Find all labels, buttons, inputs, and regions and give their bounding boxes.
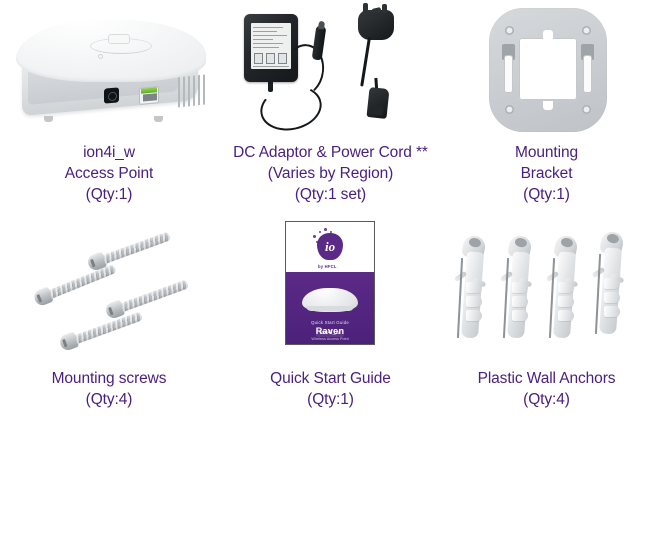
mounting-screws-art-area bbox=[0, 218, 218, 368]
wall-anchor-icon bbox=[455, 236, 489, 340]
screw-icon bbox=[58, 308, 144, 352]
mounting-screws-caption: Mounting screws (Qty:4) bbox=[52, 368, 167, 410]
caption-line-1: Mounting bbox=[515, 142, 578, 163]
mounting-bracket-icon bbox=[489, 8, 607, 132]
caption-line-1: DC Adaptor & Power Cord ** bbox=[233, 142, 428, 163]
bracket-clip-right bbox=[581, 44, 594, 92]
bracket-screw-hole-top-right bbox=[582, 26, 591, 35]
package-item-dc-adaptor: DC Adaptor & Power Cord ** (Varies by Re… bbox=[218, 0, 443, 218]
screw-icon bbox=[32, 260, 118, 307]
iec-connector bbox=[366, 87, 389, 119]
dc-power-adaptor-icon bbox=[232, 8, 344, 130]
caption-line-1: Plastic Wall Anchors bbox=[478, 368, 616, 389]
screw-group-icon bbox=[8, 228, 194, 360]
mounting-bracket-caption: Mounting Bracket (Qty:1) bbox=[515, 142, 578, 205]
package-item-mounting-bracket: Mounting Bracket (Qty:1) bbox=[443, 0, 650, 218]
plastic-wall-anchors-caption: Plastic Wall Anchors (Qty:4) bbox=[478, 368, 616, 410]
booklet-icon: io by HFCL Quick Start Guide Raven Wirel… bbox=[286, 222, 374, 344]
bracket-screw-hole-bottom-left bbox=[505, 105, 514, 114]
caption-line-2: Access Point bbox=[65, 163, 153, 184]
plug-pin-earth bbox=[372, 7, 382, 14]
ap-status-led bbox=[98, 54, 103, 59]
caption-line-1: Quick Start Guide bbox=[270, 368, 391, 389]
ethernet-rj45-port bbox=[139, 86, 159, 105]
dc-jack-port bbox=[104, 87, 119, 103]
dc-adaptor-art-area bbox=[218, 0, 443, 136]
caption-line-2: (Qty:1) bbox=[270, 389, 391, 410]
screw-icon bbox=[104, 276, 190, 320]
bracket-screw-hole-top-left bbox=[505, 26, 514, 35]
wall-anchor-icon bbox=[501, 236, 535, 340]
ap-foot-right bbox=[154, 116, 163, 122]
caption-line-1: ion4i_w bbox=[65, 142, 153, 163]
screw-icon bbox=[86, 228, 172, 272]
adaptor-cord-exit bbox=[268, 80, 273, 92]
plug-pin-left bbox=[363, 3, 368, 13]
caption-line-3: (Qty:1) bbox=[65, 184, 153, 205]
bracket-screw-hole-bottom-right bbox=[582, 105, 591, 114]
package-item-plastic-wall-anchors: Plastic Wall Anchors (Qty:4) bbox=[443, 218, 650, 446]
logo-byline: by HFCL bbox=[318, 264, 337, 269]
caption-line-3: (Qty:1) bbox=[515, 184, 578, 205]
guide-cover-subtitle: Wireless Access Point bbox=[286, 337, 374, 341]
package-contents-grid: ion4i_w Access Point (Qty:1) bbox=[0, 0, 650, 535]
caption-line-2: (Qty:4) bbox=[478, 389, 616, 410]
access-point-caption: ion4i_w Access Point (Qty:1) bbox=[65, 142, 153, 205]
caption-line-1: Mounting screws bbox=[52, 368, 167, 389]
mains-plug bbox=[358, 10, 394, 40]
wireless-access-point-icon bbox=[14, 14, 210, 122]
guide-cover-footer-brand: ion4i_w bbox=[316, 329, 344, 337]
wall-anchor-group-icon bbox=[453, 224, 635, 348]
ap-vent-grille bbox=[178, 75, 204, 108]
ap-top-notch bbox=[108, 34, 130, 44]
access-point-art-area bbox=[0, 0, 218, 136]
quick-start-guide-caption: Quick Start Guide (Qty:1) bbox=[270, 368, 391, 410]
power-cord-wire bbox=[360, 37, 371, 87]
plug-pin-right bbox=[382, 4, 387, 13]
bracket-center-cutout bbox=[519, 38, 577, 100]
dc-adaptor-caption: DC Adaptor & Power Cord ** (Varies by Re… bbox=[233, 142, 428, 205]
package-item-mounting-screws: Mounting screws (Qty:4) bbox=[0, 218, 218, 446]
caption-line-2: (Qty:4) bbox=[52, 389, 167, 410]
wall-anchor-icon bbox=[547, 236, 581, 340]
wall-anchor-icon bbox=[593, 232, 627, 336]
guide-cover-kicker: Quick Start Guide bbox=[286, 320, 374, 325]
caption-line-3: (Qty:1 set) bbox=[233, 184, 428, 205]
quick-start-guide-art-area: io by HFCL Quick Start Guide Raven Wirel… bbox=[218, 218, 443, 368]
bracket-clip-left bbox=[502, 44, 515, 92]
mounting-bracket-art-area bbox=[443, 0, 650, 136]
guide-cover-top: io by HFCL bbox=[286, 222, 374, 272]
package-item-quick-start-guide: io by HFCL Quick Start Guide Raven Wirel… bbox=[218, 218, 443, 446]
bracket-tab-bottom bbox=[543, 101, 553, 110]
caption-line-2: Bracket bbox=[515, 163, 578, 184]
logo-wordmark: io bbox=[325, 239, 335, 255]
guide-cover-product-image bbox=[302, 288, 358, 312]
caption-line-2: (Varies by Region) bbox=[233, 163, 428, 184]
package-item-access-point: ion4i_w Access Point (Qty:1) bbox=[0, 0, 218, 218]
power-cord-icon bbox=[344, 4, 424, 130]
bracket-tab-top bbox=[543, 30, 553, 39]
ap-foot-left bbox=[44, 116, 53, 122]
ap-dome-top bbox=[16, 20, 206, 82]
guide-cover-bottom: Quick Start Guide Raven Wireless Access … bbox=[286, 272, 374, 344]
plastic-wall-anchors-art-area bbox=[443, 218, 650, 368]
brand-logo-icon: io by HFCL bbox=[310, 227, 350, 267]
dc-barrel-connector bbox=[312, 25, 327, 60]
